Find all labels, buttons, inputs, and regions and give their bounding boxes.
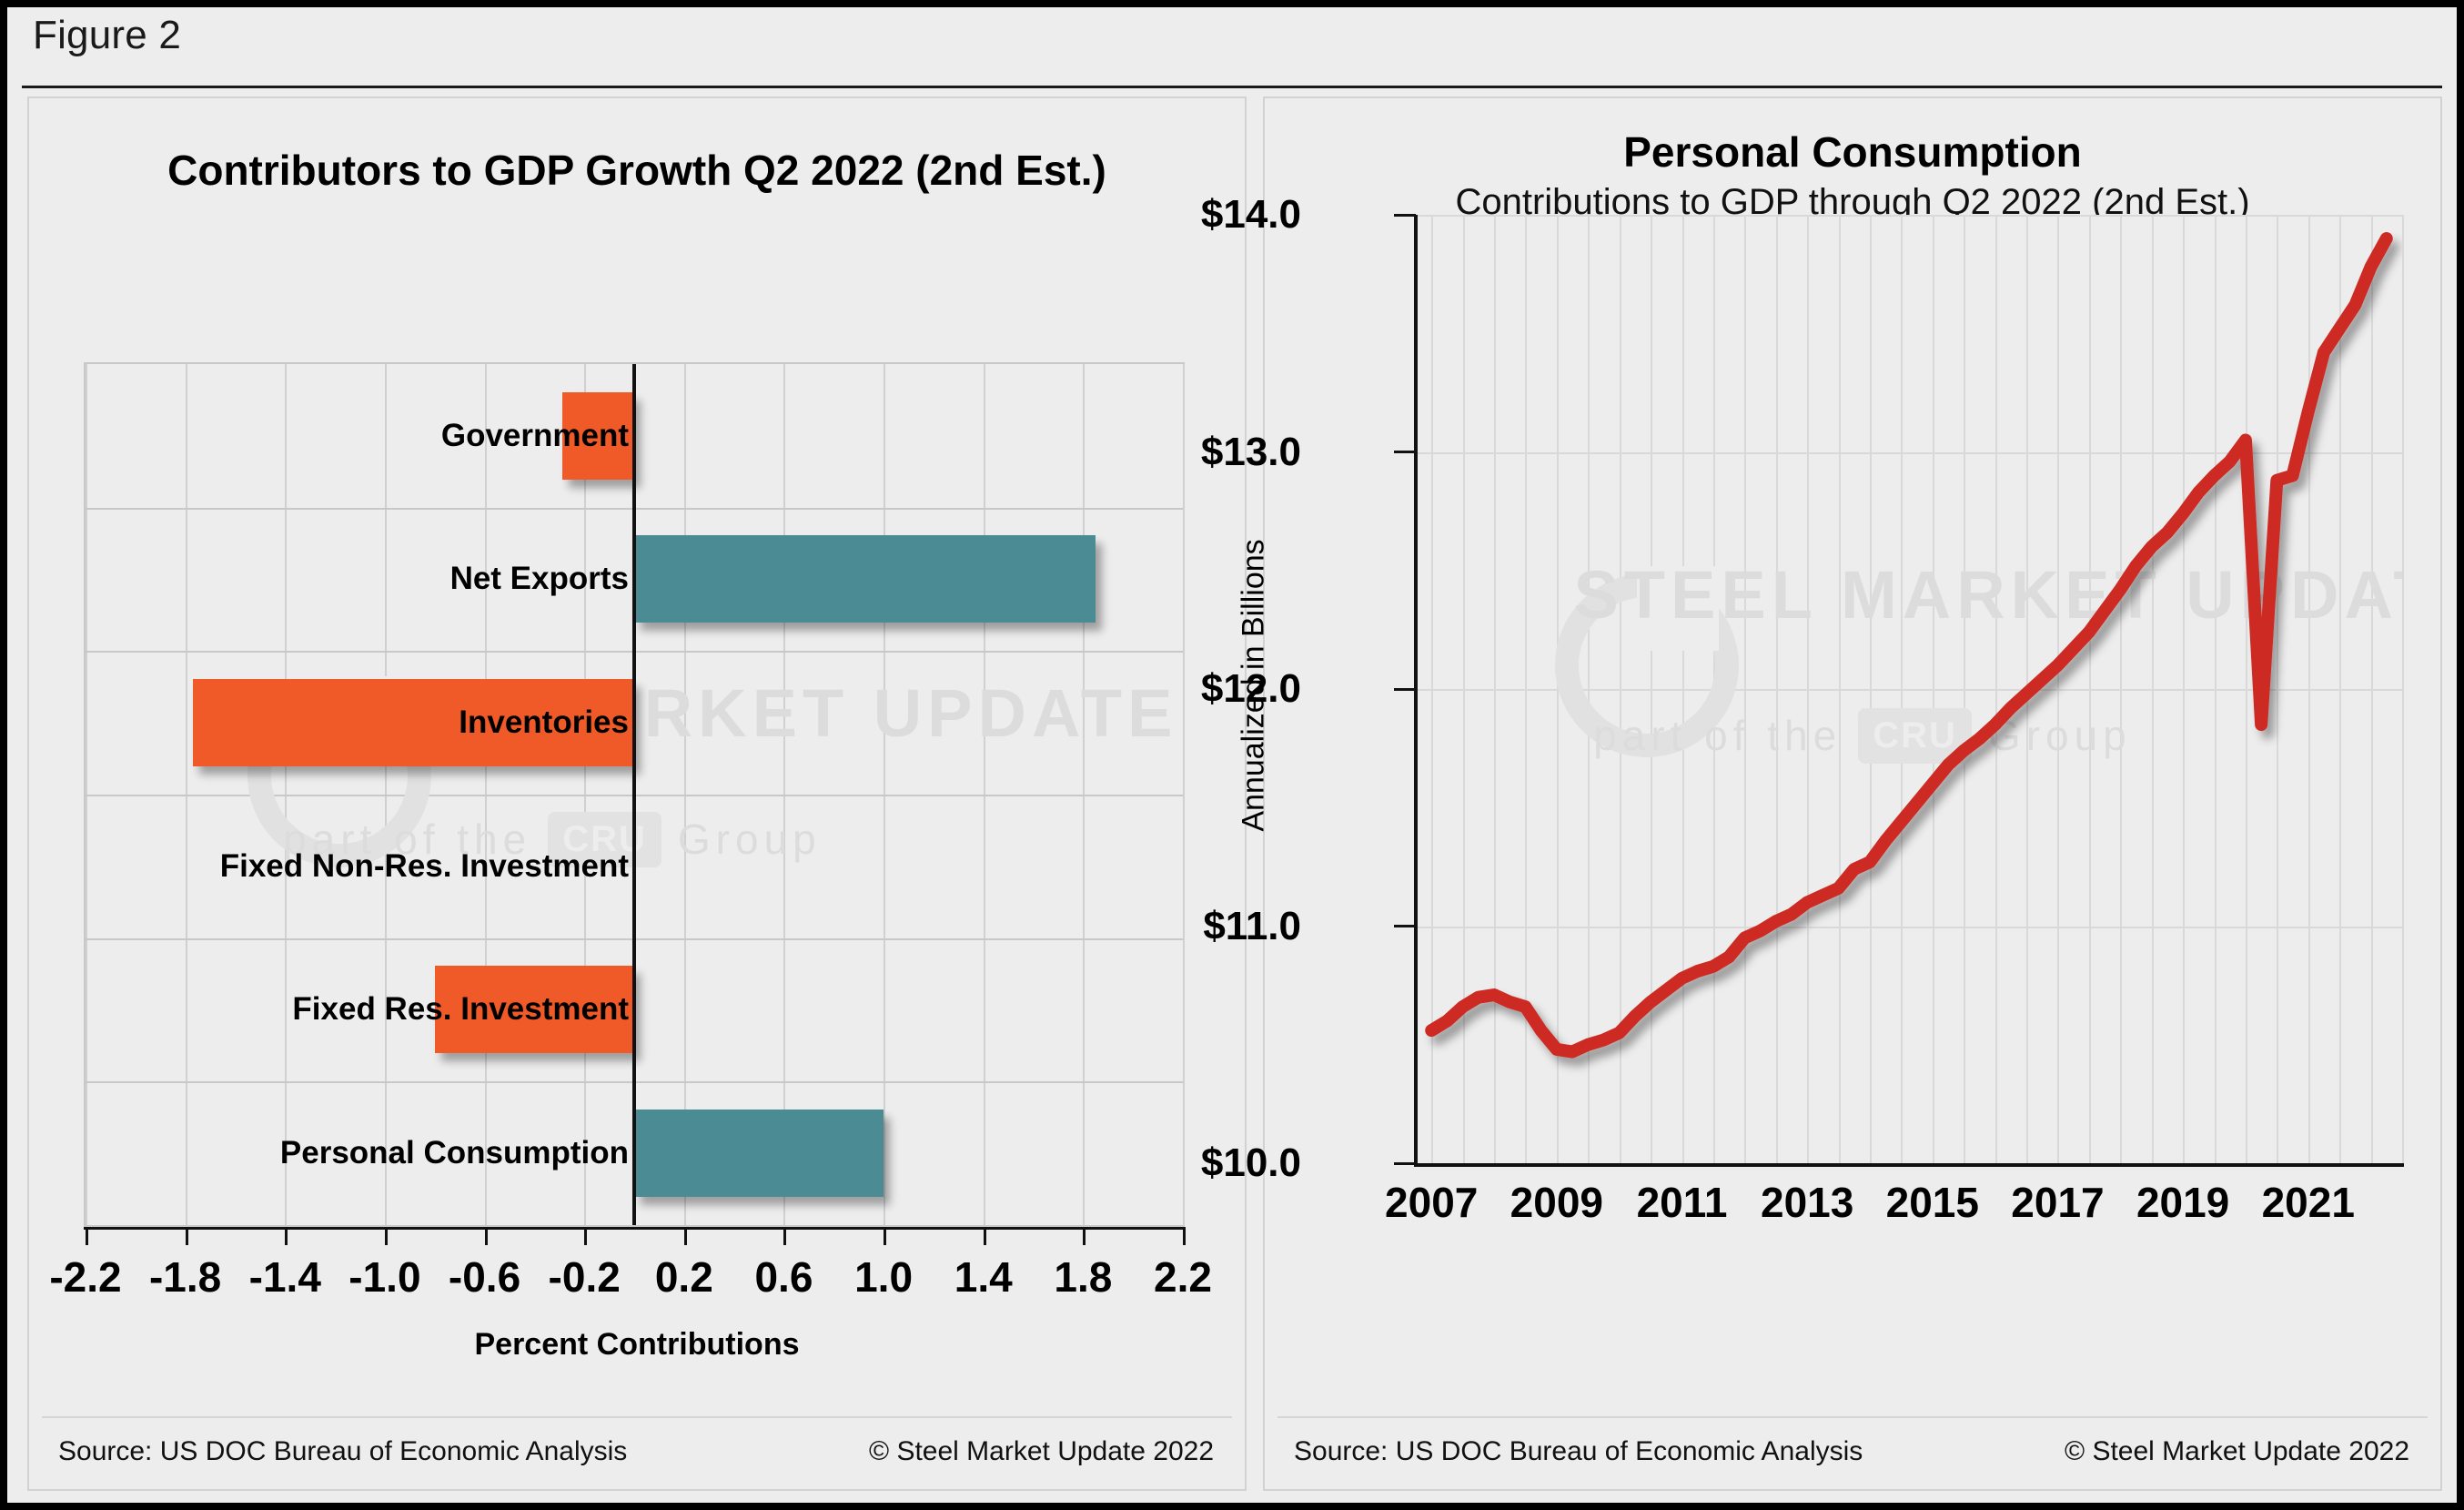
copyright-text: © Steel Market Update 2022 xyxy=(869,1436,1214,1467)
bar-x-tick-label: 2.2 xyxy=(1154,1252,1212,1302)
line-gridline-vertical xyxy=(2402,215,2404,1163)
line-x-tick-label: 2011 xyxy=(1637,1178,1728,1227)
bar-chart-title: Contributors to GDP Growth Q2 2022 (2nd … xyxy=(29,146,1245,195)
line-y-tick xyxy=(1394,451,1416,453)
bar-x-tick-label: -1.8 xyxy=(149,1252,221,1302)
figure-caption: Figure 2 xyxy=(33,13,181,58)
bar-rect-net-exports[interactable] xyxy=(634,535,1096,623)
bar-x-tick xyxy=(285,1227,288,1245)
bar-x-tick xyxy=(584,1227,587,1245)
figure-frame: Figure 2 Contributors to GDP Growth Q2 2… xyxy=(7,7,2457,1503)
line-chart-plot-area: STEEL MARKET UPDATEpart of theCRUGroup xyxy=(1416,215,2402,1163)
bar-x-tick xyxy=(783,1227,786,1245)
line-y-tick xyxy=(1394,925,1416,927)
line-x-tick-label: 2013 xyxy=(1761,1178,1853,1227)
line-x-tick-label: 2015 xyxy=(1886,1178,1979,1227)
line-chart-title: Personal Consumption xyxy=(1265,127,2440,177)
line-y-tick xyxy=(1394,214,1416,217)
line-x-tick-label: 2007 xyxy=(1385,1178,1478,1227)
line-y-tick-label: $11.0 xyxy=(1203,904,1301,949)
bar-x-tick xyxy=(385,1227,388,1245)
source-text: Source: US DOC Bureau of Economic Analys… xyxy=(1294,1436,1863,1467)
bar-x-axis-ticks xyxy=(84,1227,1185,1245)
line-x-axis xyxy=(1414,1163,2404,1167)
bar-x-tick-label: -0.2 xyxy=(549,1252,621,1302)
bar-x-tick-label: 0.6 xyxy=(754,1252,813,1302)
bar-x-tick xyxy=(684,1227,687,1245)
bar-rect-personal-consumption[interactable] xyxy=(634,1110,884,1197)
line-y-axis-title: Annualized in Billions xyxy=(1237,539,1272,831)
bar-chart-plot-area: STEEL MARKET UPDATEpart of theCRUGroup G… xyxy=(84,362,1185,1227)
caption-divider xyxy=(22,86,2442,88)
line-x-tick-label: 2017 xyxy=(2011,1178,2104,1227)
line-x-tick-label: 2009 xyxy=(1510,1178,1603,1227)
copyright-text: © Steel Market Update 2022 xyxy=(2065,1436,2409,1467)
bar-x-tick-label: 0.2 xyxy=(655,1252,713,1302)
bar-x-tick-label: -1.4 xyxy=(249,1252,321,1302)
bar-x-tick xyxy=(984,1227,986,1245)
bar-category-label: Personal Consumption xyxy=(280,1135,629,1171)
bar-x-tick-label: 1.0 xyxy=(854,1252,913,1302)
bar-zero-axis-line xyxy=(632,364,636,1225)
bar-category-label: Net Exports xyxy=(450,561,629,597)
line-y-tick-label: $10.0 xyxy=(1201,1140,1301,1186)
bar-x-tick xyxy=(1183,1227,1186,1245)
line-y-tick-label: $14.0 xyxy=(1201,192,1301,238)
panel-footer-divider xyxy=(42,1416,1232,1418)
bar-x-tick-label: -0.6 xyxy=(449,1252,520,1302)
bar-x-tick xyxy=(1083,1227,1086,1245)
bar-x-axis-title: Percent Contributions xyxy=(29,1327,1245,1363)
bar-x-tick-label: 1.8 xyxy=(1054,1252,1112,1302)
bar-x-tick-label: -1.0 xyxy=(348,1252,420,1302)
bar-chart-panel: Contributors to GDP Growth Q2 2022 (2nd … xyxy=(27,96,1247,1491)
line-x-tick-label: 2019 xyxy=(2136,1178,2229,1227)
bar-x-tick xyxy=(485,1227,488,1245)
panel-footer-divider xyxy=(1277,1416,2428,1418)
bar-x-tick xyxy=(86,1227,88,1245)
line-y-tick-label: $13.0 xyxy=(1201,430,1301,475)
source-text: Source: US DOC Bureau of Economic Analys… xyxy=(58,1436,627,1467)
line-chart-panel: Personal Consumption Contributions to GD… xyxy=(1263,96,2442,1491)
bar-category-label: Inventories xyxy=(459,704,629,741)
bar-gridline-vertical xyxy=(1183,364,1185,1225)
bar-x-tick xyxy=(884,1227,886,1245)
bar-x-tick-label: -2.2 xyxy=(49,1252,121,1302)
bar-category-label: Government xyxy=(441,418,629,454)
bar-category-label: Fixed Non-Res. Investment xyxy=(220,848,629,885)
line-series-personal-consumption xyxy=(1416,215,2402,1163)
bar-x-tick-label: 1.4 xyxy=(954,1252,1013,1302)
line-x-tick-label: 2021 xyxy=(2262,1178,2355,1227)
line-y-tick xyxy=(1394,688,1416,691)
line-y-tick xyxy=(1394,1162,1416,1165)
bar-x-tick xyxy=(186,1227,188,1245)
bar-category-label: Fixed Res. Investment xyxy=(292,991,629,1028)
